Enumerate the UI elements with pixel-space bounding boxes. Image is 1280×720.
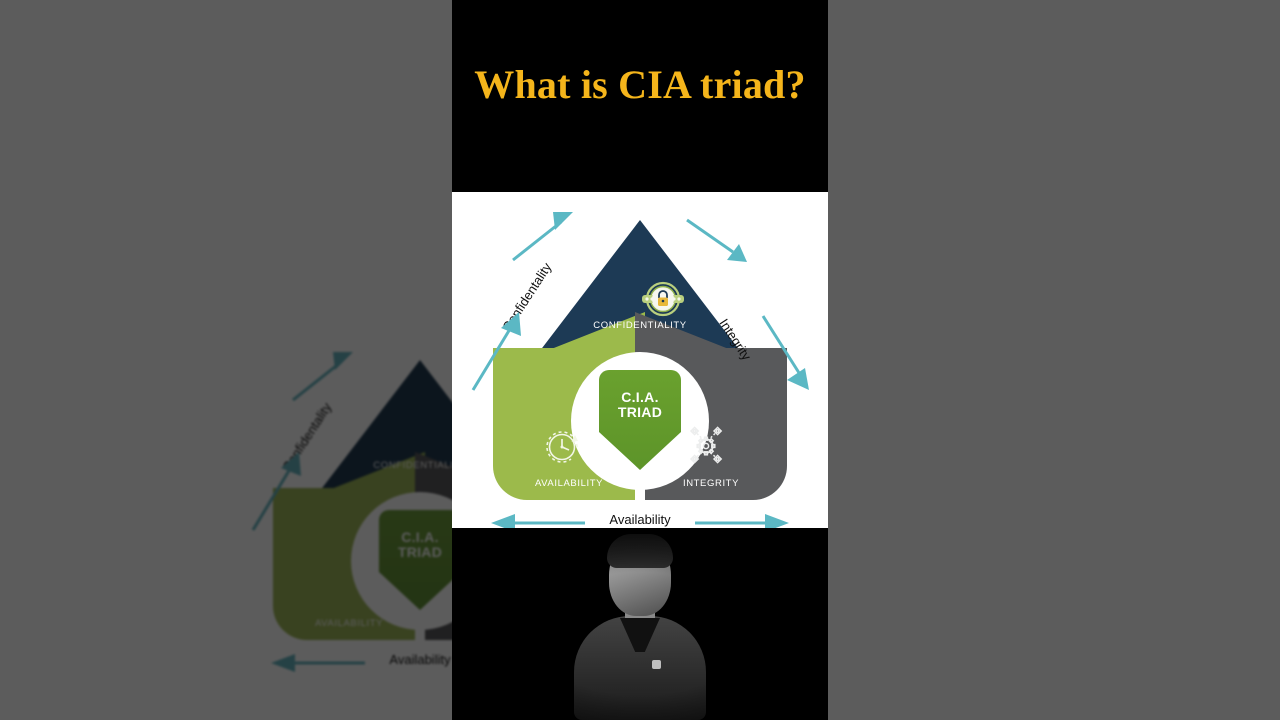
arrow-top-right-icon	[681, 206, 751, 266]
arrow-left-up-icon	[467, 306, 527, 396]
page-title: What is CIA triad?	[452, 62, 828, 108]
video-frame: C.I.A.TRIAD CONFIDENTIALITY AVAILABILITY…	[0, 0, 1280, 720]
background-blur-right: C.I.A.TRIAD CONFIDENTIALITY AVAILABILITY…	[828, 0, 1280, 720]
arrow-right-down-icon	[753, 306, 813, 396]
shield-line-2: TRIAD	[618, 404, 662, 420]
triad-shape-group: C.I.A. TRIAD CONFIDENTIALITY AVAILABILIT…	[485, 220, 795, 500]
caption-availability: AVAILABILITY	[493, 478, 645, 489]
background-blur-left: C.I.A.TRIAD CONFIDENTIALITY AVAILABILITY…	[0, 0, 452, 720]
background-art-left: C.I.A.TRIAD CONFIDENTIALITY AVAILABILITY…	[0, 0, 452, 720]
cia-triad-diagram-card: C.I.A. TRIAD CONFIDENTIALITY AVAILABILIT…	[452, 192, 828, 528]
shield-line-1: C.I.A.	[621, 389, 659, 405]
cia-triad-artwork: C.I.A. TRIAD CONFIDENTIALITY AVAILABILIT…	[452, 192, 828, 528]
caption-integrity: INTEGRITY	[635, 478, 787, 489]
arrow-top-left-icon	[509, 206, 579, 266]
lock-badge-icon	[640, 278, 686, 320]
arrow-bottom-right-icon	[691, 512, 791, 528]
caption-confidentiality: CONFIDENTIALITY	[540, 320, 740, 331]
background-art-right: C.I.A.TRIAD CONFIDENTIALITY AVAILABILITY…	[828, 0, 1280, 720]
edge-label-availability: Availability	[609, 512, 670, 527]
clock-refresh-icon	[542, 425, 584, 467]
photo-vignette	[452, 528, 828, 720]
presenter-area	[452, 528, 828, 720]
arrow-bottom-left-icon	[489, 512, 589, 528]
gear-network-icon	[685, 425, 727, 467]
